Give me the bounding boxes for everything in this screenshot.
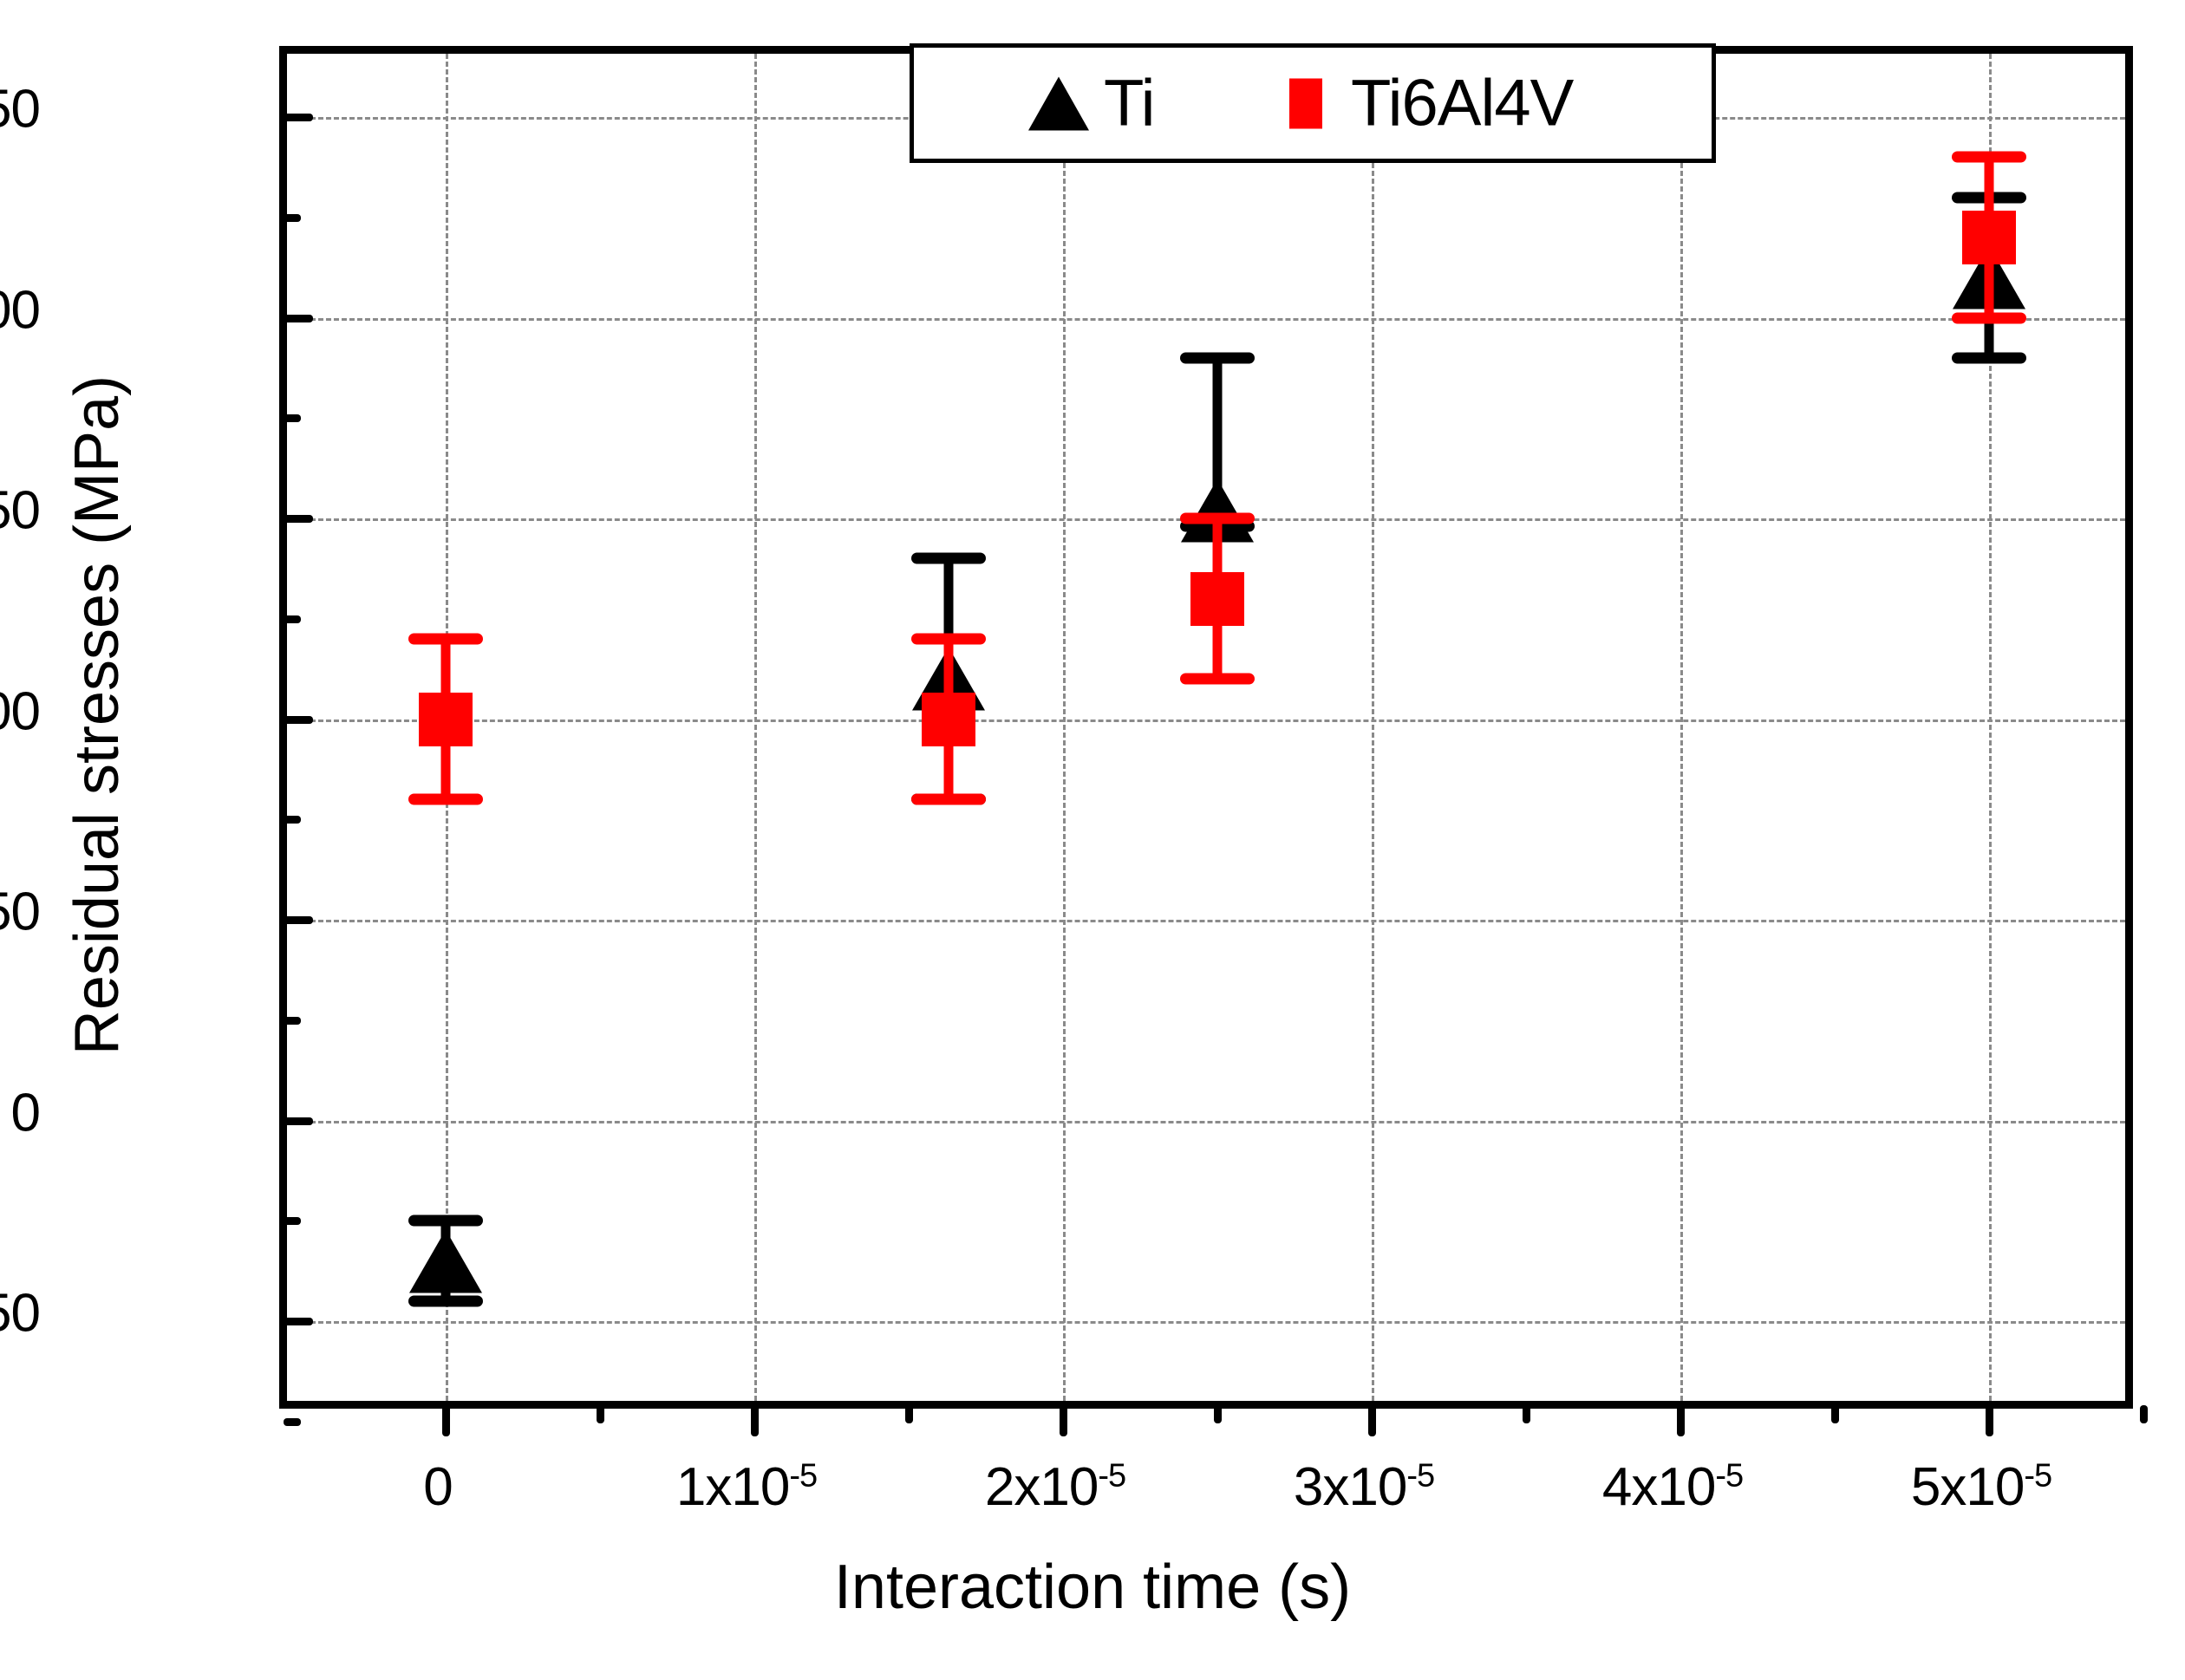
x-tick-minor bbox=[1214, 1405, 1222, 1423]
gridline-horizontal bbox=[287, 720, 2125, 722]
error-bar-cap-upper bbox=[408, 633, 483, 644]
y-tick-label: 250 bbox=[0, 79, 40, 140]
x-tick-label: 4x10-5 bbox=[1602, 1456, 1743, 1518]
gridline-horizontal bbox=[287, 920, 2125, 922]
data-point-square[interactable] bbox=[419, 693, 473, 746]
x-tick-major bbox=[442, 1405, 450, 1436]
x-tick-major bbox=[1368, 1405, 1376, 1436]
x-tick-major bbox=[751, 1405, 759, 1436]
y-tick-label: -50 bbox=[0, 1283, 40, 1345]
x-tick-minor bbox=[1831, 1405, 1839, 1423]
x-tick-minor bbox=[905, 1405, 913, 1423]
x-tick-major bbox=[1677, 1405, 1685, 1436]
y-tick-minor bbox=[284, 816, 301, 824]
y-tick-major bbox=[284, 716, 313, 724]
x-axis-title: Interaction time (s) bbox=[0, 1552, 2185, 1623]
y-tick-major bbox=[284, 515, 313, 523]
error-bar-cap-upper bbox=[1180, 513, 1255, 524]
error-bar-cap-upper bbox=[911, 633, 986, 644]
y-tick-minor bbox=[284, 1418, 301, 1426]
data-point-square[interactable] bbox=[1190, 572, 1244, 626]
y-tick-label: 100 bbox=[0, 680, 40, 742]
y-tick-major bbox=[284, 916, 313, 924]
plot-area bbox=[287, 54, 2125, 1401]
x-tick-minor bbox=[597, 1405, 604, 1423]
error-bar-cap-upper bbox=[911, 553, 986, 564]
gridline-vertical bbox=[1063, 54, 1066, 1401]
x-tick-minor bbox=[2140, 1405, 2148, 1423]
plot-frame bbox=[279, 46, 2133, 1409]
legend-square-icon bbox=[1261, 78, 1351, 128]
error-bar-cap-upper bbox=[1180, 352, 1255, 363]
x-tick-major bbox=[1986, 1405, 1993, 1436]
y-tick-major bbox=[284, 1117, 313, 1125]
y-tick-label: 0 bbox=[11, 1082, 40, 1143]
y-tick-label: 150 bbox=[0, 480, 40, 542]
y-tick-label: 200 bbox=[0, 279, 40, 341]
data-point-square[interactable] bbox=[922, 693, 975, 746]
x-tick-label: 0 bbox=[423, 1456, 452, 1518]
y-tick-major bbox=[284, 1318, 313, 1325]
y-tick-major bbox=[284, 114, 313, 121]
error-bar-cap-lower bbox=[408, 1295, 483, 1306]
y-tick-minor bbox=[284, 1017, 301, 1025]
x-tick-label: 1x10-5 bbox=[676, 1456, 817, 1518]
error-bar-cap-lower bbox=[1952, 352, 2026, 363]
error-bar-cap-upper bbox=[408, 1215, 483, 1227]
y-tick-major bbox=[284, 315, 313, 322]
gridline-horizontal bbox=[287, 1121, 2125, 1123]
gridline-horizontal bbox=[287, 1321, 2125, 1324]
error-bar-cap-lower bbox=[1180, 674, 1255, 685]
error-bar-cap-lower bbox=[911, 794, 986, 805]
gridline-vertical bbox=[1680, 54, 1683, 1401]
gridline-vertical bbox=[1372, 54, 1374, 1401]
x-tick-label: 5x10-5 bbox=[1911, 1456, 2051, 1518]
x-tick-label: 3x10-5 bbox=[1294, 1456, 1434, 1518]
x-tick-label: 2x10-5 bbox=[985, 1456, 1125, 1518]
error-bar-cap-upper bbox=[1952, 152, 2026, 163]
error-bar-cap-lower bbox=[408, 794, 483, 805]
y-tick-minor bbox=[284, 414, 301, 422]
legend-entry[interactable]: Ti6Al4V bbox=[1261, 66, 1573, 141]
gridline-vertical bbox=[754, 54, 757, 1401]
y-tick-label: 50 bbox=[0, 882, 40, 943]
data-point-square[interactable] bbox=[1962, 211, 2016, 264]
y-axis-title: Residual stresses (MPa) bbox=[62, 108, 133, 1322]
data-point-triangle[interactable] bbox=[409, 1229, 482, 1293]
x-tick-minor bbox=[1523, 1405, 1530, 1423]
gridline-horizontal bbox=[287, 318, 2125, 321]
legend-label: Ti bbox=[1104, 66, 1155, 141]
y-tick-minor bbox=[284, 214, 301, 222]
y-tick-minor bbox=[284, 615, 301, 623]
chart-legend[interactable]: TiTi6Al4V bbox=[910, 43, 1716, 163]
legend-entry[interactable]: Ti bbox=[1014, 66, 1155, 141]
chart-figure: 250200150100500-50 01x10-52x10-53x10-54x… bbox=[0, 0, 2185, 1680]
legend-triangle-icon bbox=[1014, 76, 1104, 130]
legend-label: Ti6Al4V bbox=[1351, 66, 1573, 141]
error-bar-cap-lower bbox=[1952, 312, 2026, 323]
x-tick-major bbox=[1060, 1405, 1067, 1436]
y-tick-minor bbox=[284, 1217, 301, 1225]
